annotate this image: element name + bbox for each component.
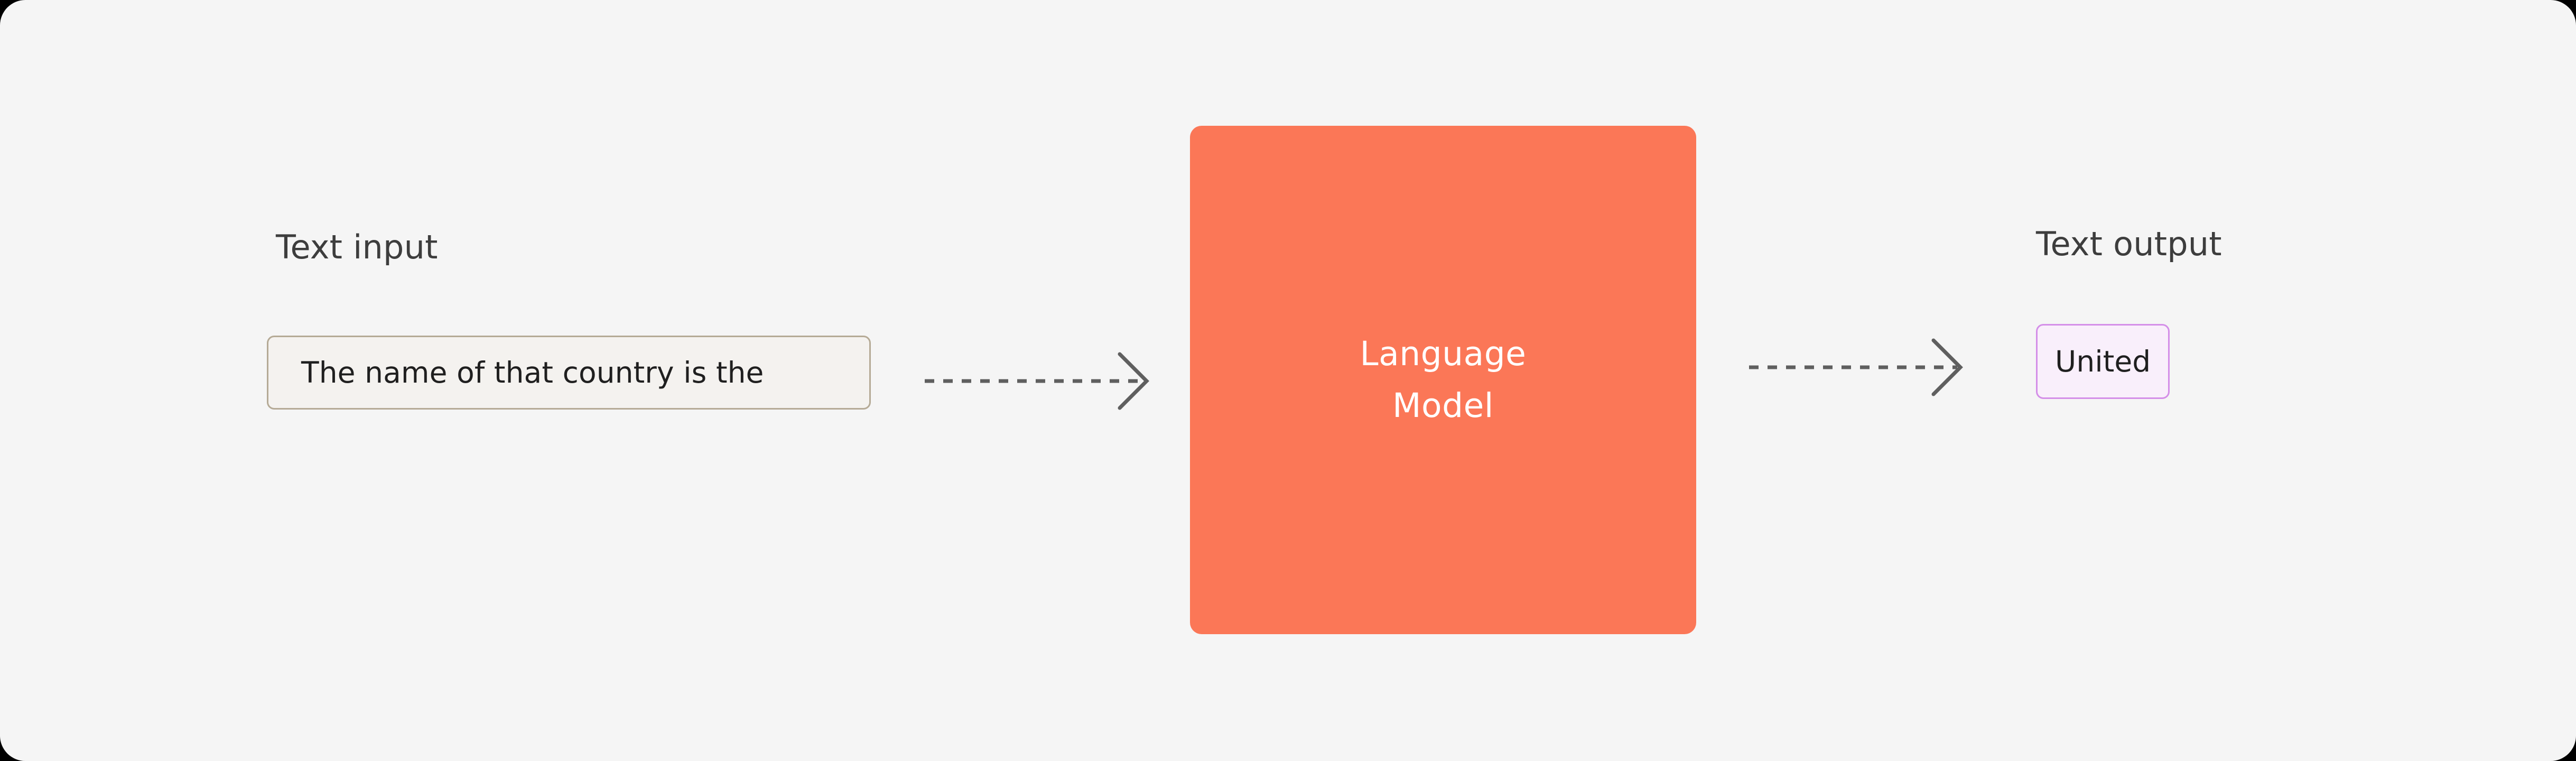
language-model-label: Language Model xyxy=(1258,328,1628,432)
diagram-canvas: Text input The name of that country is t… xyxy=(0,0,2576,761)
text-output-token-value: United xyxy=(2055,344,2151,379)
arrow-model-to-output-icon xyxy=(1744,335,1971,400)
language-model-label-line-2: Model xyxy=(1258,380,1628,432)
text-input-stage: Text input The name of that country is t… xyxy=(267,227,901,417)
text-output-label: Text output xyxy=(2036,224,2222,264)
arrow-input-to-model-icon xyxy=(919,349,1157,413)
text-input-value: The name of that country is the xyxy=(268,355,764,390)
text-input-field[interactable]: The name of that country is the xyxy=(267,336,871,410)
text-output-token[interactable]: United xyxy=(2036,324,2170,399)
language-model-label-line-1: Language xyxy=(1258,328,1628,380)
text-input-label: Text input xyxy=(276,227,438,267)
language-model-block[interactable]: Language Model xyxy=(1190,126,1696,634)
text-output-stage: Text output United xyxy=(2036,224,2406,404)
